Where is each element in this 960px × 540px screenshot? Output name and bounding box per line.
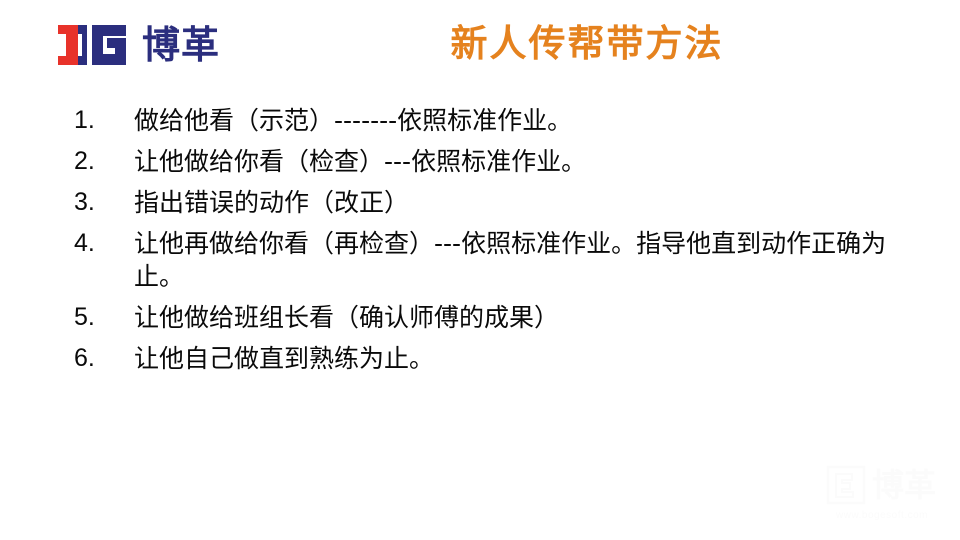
list-item-text: 让他再做给你看（再检查）---依照标准作业。指导他直到动作正确为止。 <box>134 227 914 293</box>
list-item: 2. 让他做给你看（检查）---依照标准作业。 <box>74 145 914 178</box>
list-item-text: 让他做给你看（检查）---依照标准作业。 <box>134 145 914 178</box>
page-title: 新人传帮带方法 <box>107 22 960 66</box>
slide-canvas: 博革 新人传帮带方法 1. 做给他看（示范）-------依照标准作业。 2. … <box>0 0 960 540</box>
watermark-wordmark: 博革 <box>872 465 936 505</box>
list-item: 6. 让他自己做直到熟练为止。 <box>74 342 914 375</box>
watermark-logo-row: 博革 <box>826 462 946 508</box>
procedure-list: 1. 做给他看（示范）-------依照标准作业。 2. 让他做给你看（检查）-… <box>74 104 914 383</box>
list-item-number: 3. <box>74 186 134 219</box>
list-item: 5. 让他做给班组长看（确认师傅的成果） <box>74 301 914 334</box>
bg-watermark-icon <box>826 465 866 505</box>
watermark: 博革 www.bogesoft.com <box>826 462 946 532</box>
watermark-url: www.bogesoft.com <box>826 509 938 523</box>
list-item-number: 1. <box>74 104 134 137</box>
list-item-number: 2. <box>74 145 134 178</box>
list-item-number: 5. <box>74 301 134 334</box>
list-item: 4. 让他再做给你看（再检查）---依照标准作业。指导他直到动作正确为止。 <box>74 227 914 293</box>
list-item: 1. 做给他看（示范）-------依照标准作业。 <box>74 104 914 137</box>
list-item: 3. 指出错误的动作（改正） <box>74 186 914 219</box>
list-item-number: 4. <box>74 227 134 260</box>
list-item-text: 让他自己做直到熟练为止。 <box>134 342 914 375</box>
list-item-text: 做给他看（示范）-------依照标准作业。 <box>134 104 914 137</box>
list-item-text: 指出错误的动作（改正） <box>134 186 914 219</box>
list-item-number: 6. <box>74 342 134 375</box>
list-item-text: 让他做给班组长看（确认师傅的成果） <box>134 301 914 334</box>
slide-header: 博革 新人传帮带方法 <box>0 0 960 90</box>
